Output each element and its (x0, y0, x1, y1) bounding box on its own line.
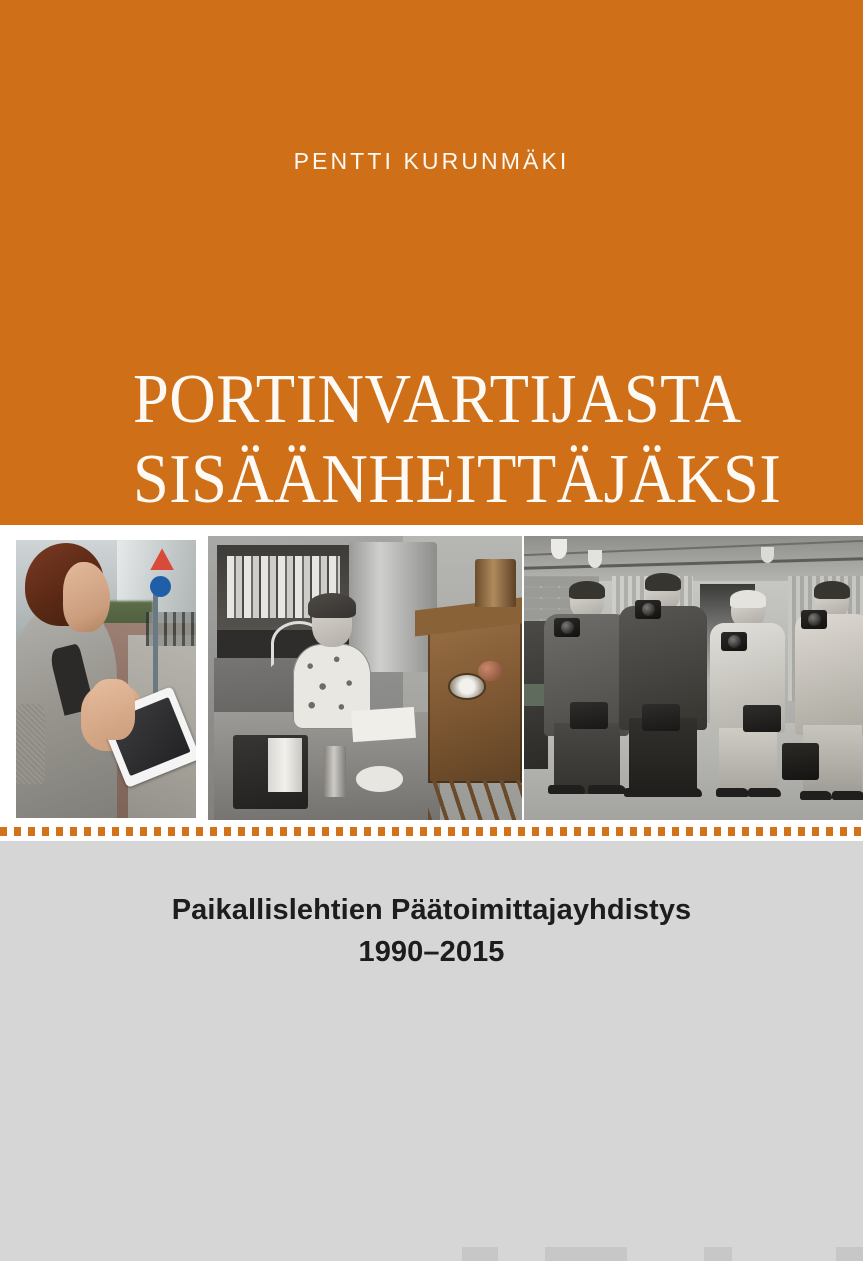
wooden-camera-box (428, 613, 522, 783)
camera-icon (635, 600, 661, 619)
figure-shoe (624, 788, 663, 797)
title-line-1: PORTINVARTIJASTA (133, 360, 777, 440)
photographer-figure (619, 576, 707, 798)
figure-body (795, 614, 863, 735)
brass-canister (475, 559, 516, 607)
camera-knob (478, 661, 503, 681)
camera-luggage (782, 743, 819, 780)
ghost-mark (704, 1247, 732, 1261)
photo-woman-tablet (16, 540, 196, 818)
figure-shoe (716, 788, 749, 797)
photo-strip (0, 525, 863, 823)
figure-shoe (832, 791, 863, 800)
ceiling-lamp-icon (551, 539, 567, 559)
photographer-figure (710, 593, 785, 797)
figure-shoe (663, 788, 702, 797)
author-name: PENTTI KURUNMÄKI (0, 148, 863, 175)
dotted-divider (0, 827, 863, 836)
woman-hand (88, 679, 135, 740)
subtitle: Paikallislehtien Päätoimittajayhdistys 1… (0, 889, 863, 973)
photographer-figure (544, 584, 629, 794)
title-line-2: SISÄÄNHEITTÄJÄKSI (133, 440, 777, 520)
coat-texture (16, 704, 45, 784)
ghost-mark (836, 1247, 863, 1261)
camera-lens-icon (450, 675, 485, 698)
figure-shoe (748, 788, 781, 797)
orange-header-panel: PENTTI KURUNMÄKI PORTINVARTIJASTA SISÄÄN… (0, 0, 863, 525)
figure-legs (719, 728, 777, 798)
figure-shoe (800, 791, 833, 800)
figure-legs (554, 723, 620, 794)
camera-bag (570, 702, 608, 729)
photo-vintage-office (208, 536, 522, 820)
bottom-ghost-marks (0, 1247, 863, 1261)
camera-stand-legs (428, 780, 522, 820)
street-sign-post (153, 584, 158, 706)
book-cover: PENTTI KURUNMÄKI PORTINVARTIJASTA SISÄÄN… (0, 0, 863, 1261)
desk-jar (324, 746, 346, 797)
camera-icon (801, 610, 827, 629)
camera-icon (721, 632, 747, 651)
paper-roll (268, 738, 303, 792)
woman-face (63, 562, 110, 632)
subtitle-line-1: Paikallislehtien Päätoimittajayhdistys (0, 889, 863, 931)
office-woman-hair (308, 593, 355, 619)
ghost-mark (462, 1247, 498, 1261)
figure-hair (814, 581, 850, 599)
figure-shoe (548, 785, 585, 794)
camera-bag (642, 704, 680, 731)
photo-vintage-office-art (208, 536, 522, 820)
ghost-mark (545, 1247, 627, 1261)
photo-woman-tablet-art (16, 540, 196, 818)
figure-hair (645, 573, 681, 591)
photo-press-photographers-art (524, 536, 863, 820)
grey-footer-panel: Paikallislehtien Päätoimittajayhdistys 1… (0, 841, 863, 1261)
figure-hair (569, 581, 605, 599)
subtitle-line-2: 1990–2015 (0, 931, 863, 973)
camera-bag (743, 705, 781, 732)
book-title: PORTINVARTIJASTA SISÄÄNHEITTÄJÄKSI (133, 360, 833, 520)
desk-papers (351, 707, 416, 743)
camera-icon (554, 618, 580, 637)
figure-hair (730, 590, 766, 608)
photo-press-photographers (524, 536, 863, 820)
desk-plate (356, 766, 403, 792)
